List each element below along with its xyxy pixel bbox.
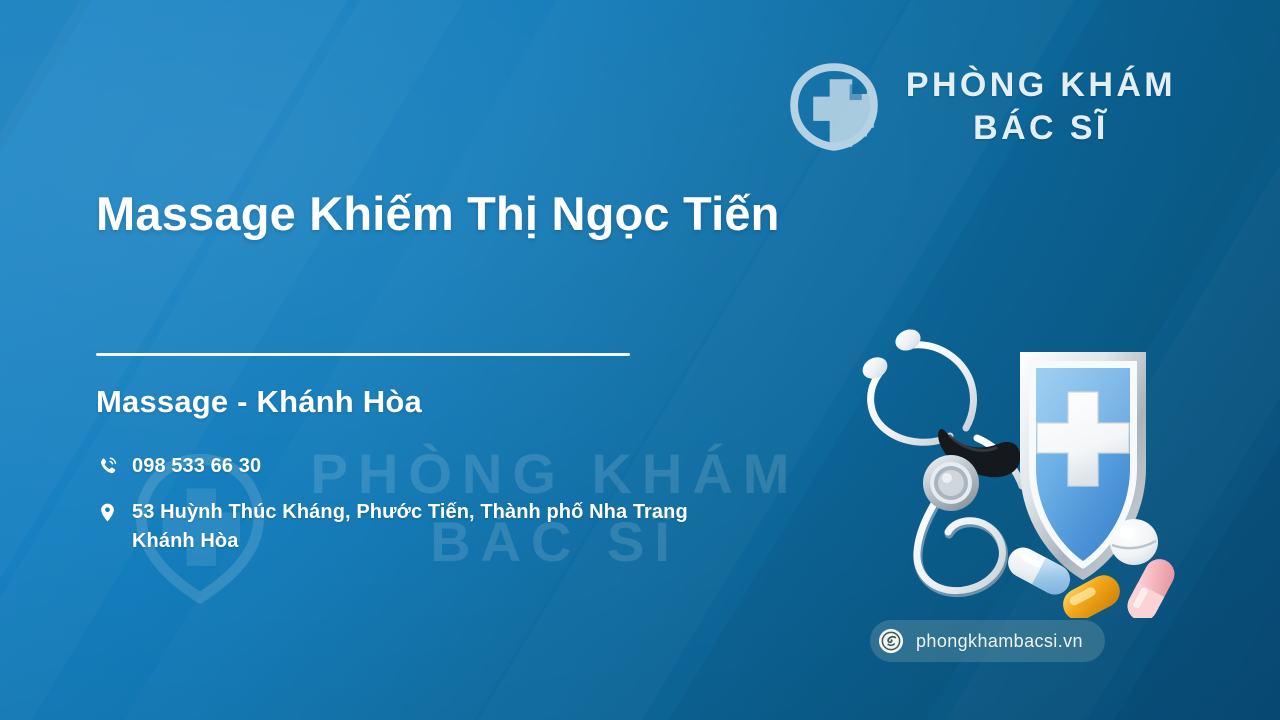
brand-logo-text: PHÒNG KHÁM BÁC SĨ <box>906 64 1176 150</box>
subtitle: Massage - Khánh Hòa <box>96 384 422 420</box>
brand-logo-line-1: PHÒNG KHÁM <box>906 64 1176 107</box>
address-text: 53 Huỳnh Thúc Kháng, Phước Tiến, Thành p… <box>132 498 688 555</box>
website-url: phongkhambacsi.vn <box>916 631 1083 652</box>
phone-row[interactable]: 098 533 66 30 <box>96 452 856 480</box>
address-line-1: 53 Huỳnh Thúc Kháng, Phước Tiến, Thành p… <box>132 501 688 523</box>
medical-shield-stethoscope-pills-illustration <box>846 318 1186 618</box>
phone-number: 098 533 66 30 <box>132 452 261 480</box>
page-title: Massage Khiếm Thị Ngọc Tiến <box>96 186 886 241</box>
brand-logo: PHÒNG KHÁM BÁC SĨ <box>782 58 1176 156</box>
globe-circle-icon <box>878 628 904 654</box>
map-pin-icon <box>96 499 118 525</box>
contact-info: 098 533 66 30 53 Huỳnh Thúc Kháng, Phước… <box>96 452 856 573</box>
content-block: Massage Khiếm Thị Ngọc Tiến <box>96 186 886 241</box>
address-row[interactable]: 53 Huỳnh Thúc Kháng, Phước Tiến, Thành p… <box>96 498 856 555</box>
title-divider <box>96 353 630 356</box>
website-badge[interactable]: phongkhambacsi.vn <box>870 620 1105 662</box>
clinic-banner: PHÒNG KHÁM BÁC SĨ PHÒNG KHÁM BÁC SĨ Mass… <box>0 0 1280 720</box>
phone-call-icon <box>96 453 118 479</box>
white-round-tablet-icon <box>1110 519 1158 565</box>
medical-cross-circle-icon <box>782 58 886 156</box>
brand-logo-line-2: BÁC SĨ <box>906 107 1176 150</box>
address-line-2: Khánh Hòa <box>132 530 238 552</box>
stethoscope-icon <box>859 326 1022 593</box>
